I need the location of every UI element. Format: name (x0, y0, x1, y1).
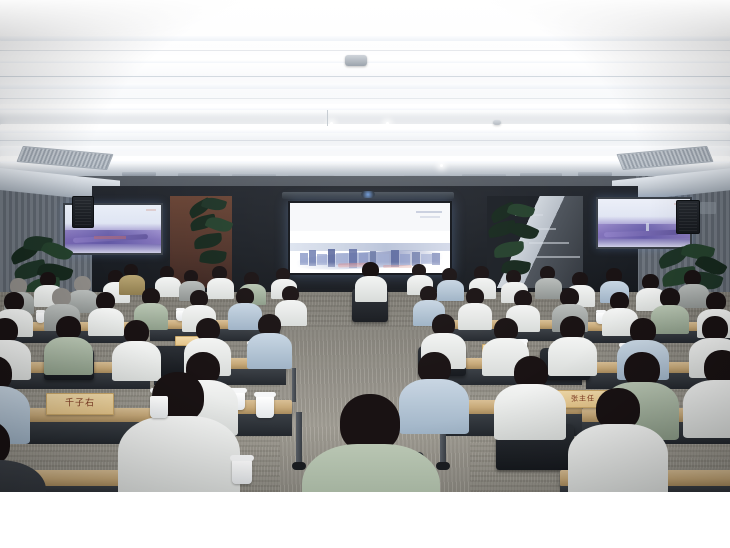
ceiling-light-strip (0, 36, 730, 41)
wall-speaker-left (72, 196, 94, 228)
slide-caption-line (420, 216, 440, 218)
stage-plant-left (186, 198, 234, 278)
hanging-wire (327, 110, 328, 126)
ceiling-fixture (345, 55, 367, 66)
page-background-bottom (0, 492, 730, 548)
desk-caster (436, 462, 450, 470)
ceiling-seam (0, 140, 730, 141)
slide-caption-line (416, 211, 442, 213)
ceiling-fixture (493, 120, 501, 125)
stair-step (536, 256, 580, 258)
wall-sign (700, 202, 716, 214)
ceramic-lidded-mug (150, 396, 168, 418)
desk-caster (292, 462, 306, 470)
ceiling-light-strip (0, 124, 730, 133)
ceiling-light-strip (0, 104, 730, 110)
ceiling-downlight (386, 122, 389, 125)
ceiling-light-strip (0, 84, 730, 89)
ceiling-seam (0, 98, 730, 99)
ceiling-seam (0, 76, 730, 77)
ceiling-downlight (330, 122, 333, 125)
ceiling-downlight (440, 164, 443, 167)
screenshot-root: 千子右 张主任 (0, 0, 730, 548)
conference-room-photo: 千子右 张主任 (0, 0, 730, 492)
desk-leg (296, 412, 302, 464)
desk-leg (292, 368, 296, 402)
ceramic-lidded-mug (256, 396, 274, 418)
wall-speaker-right (676, 200, 700, 234)
ceiling-light-strip (0, 146, 730, 151)
screen-camera-icon (361, 191, 375, 198)
placard-text: 千子右 (47, 400, 113, 409)
name-placard-front-left: 千子右 (46, 393, 114, 415)
ceiling-seam (0, 50, 730, 51)
ceramic-lidded-mug (232, 460, 252, 484)
side-screen-caption (146, 209, 156, 211)
